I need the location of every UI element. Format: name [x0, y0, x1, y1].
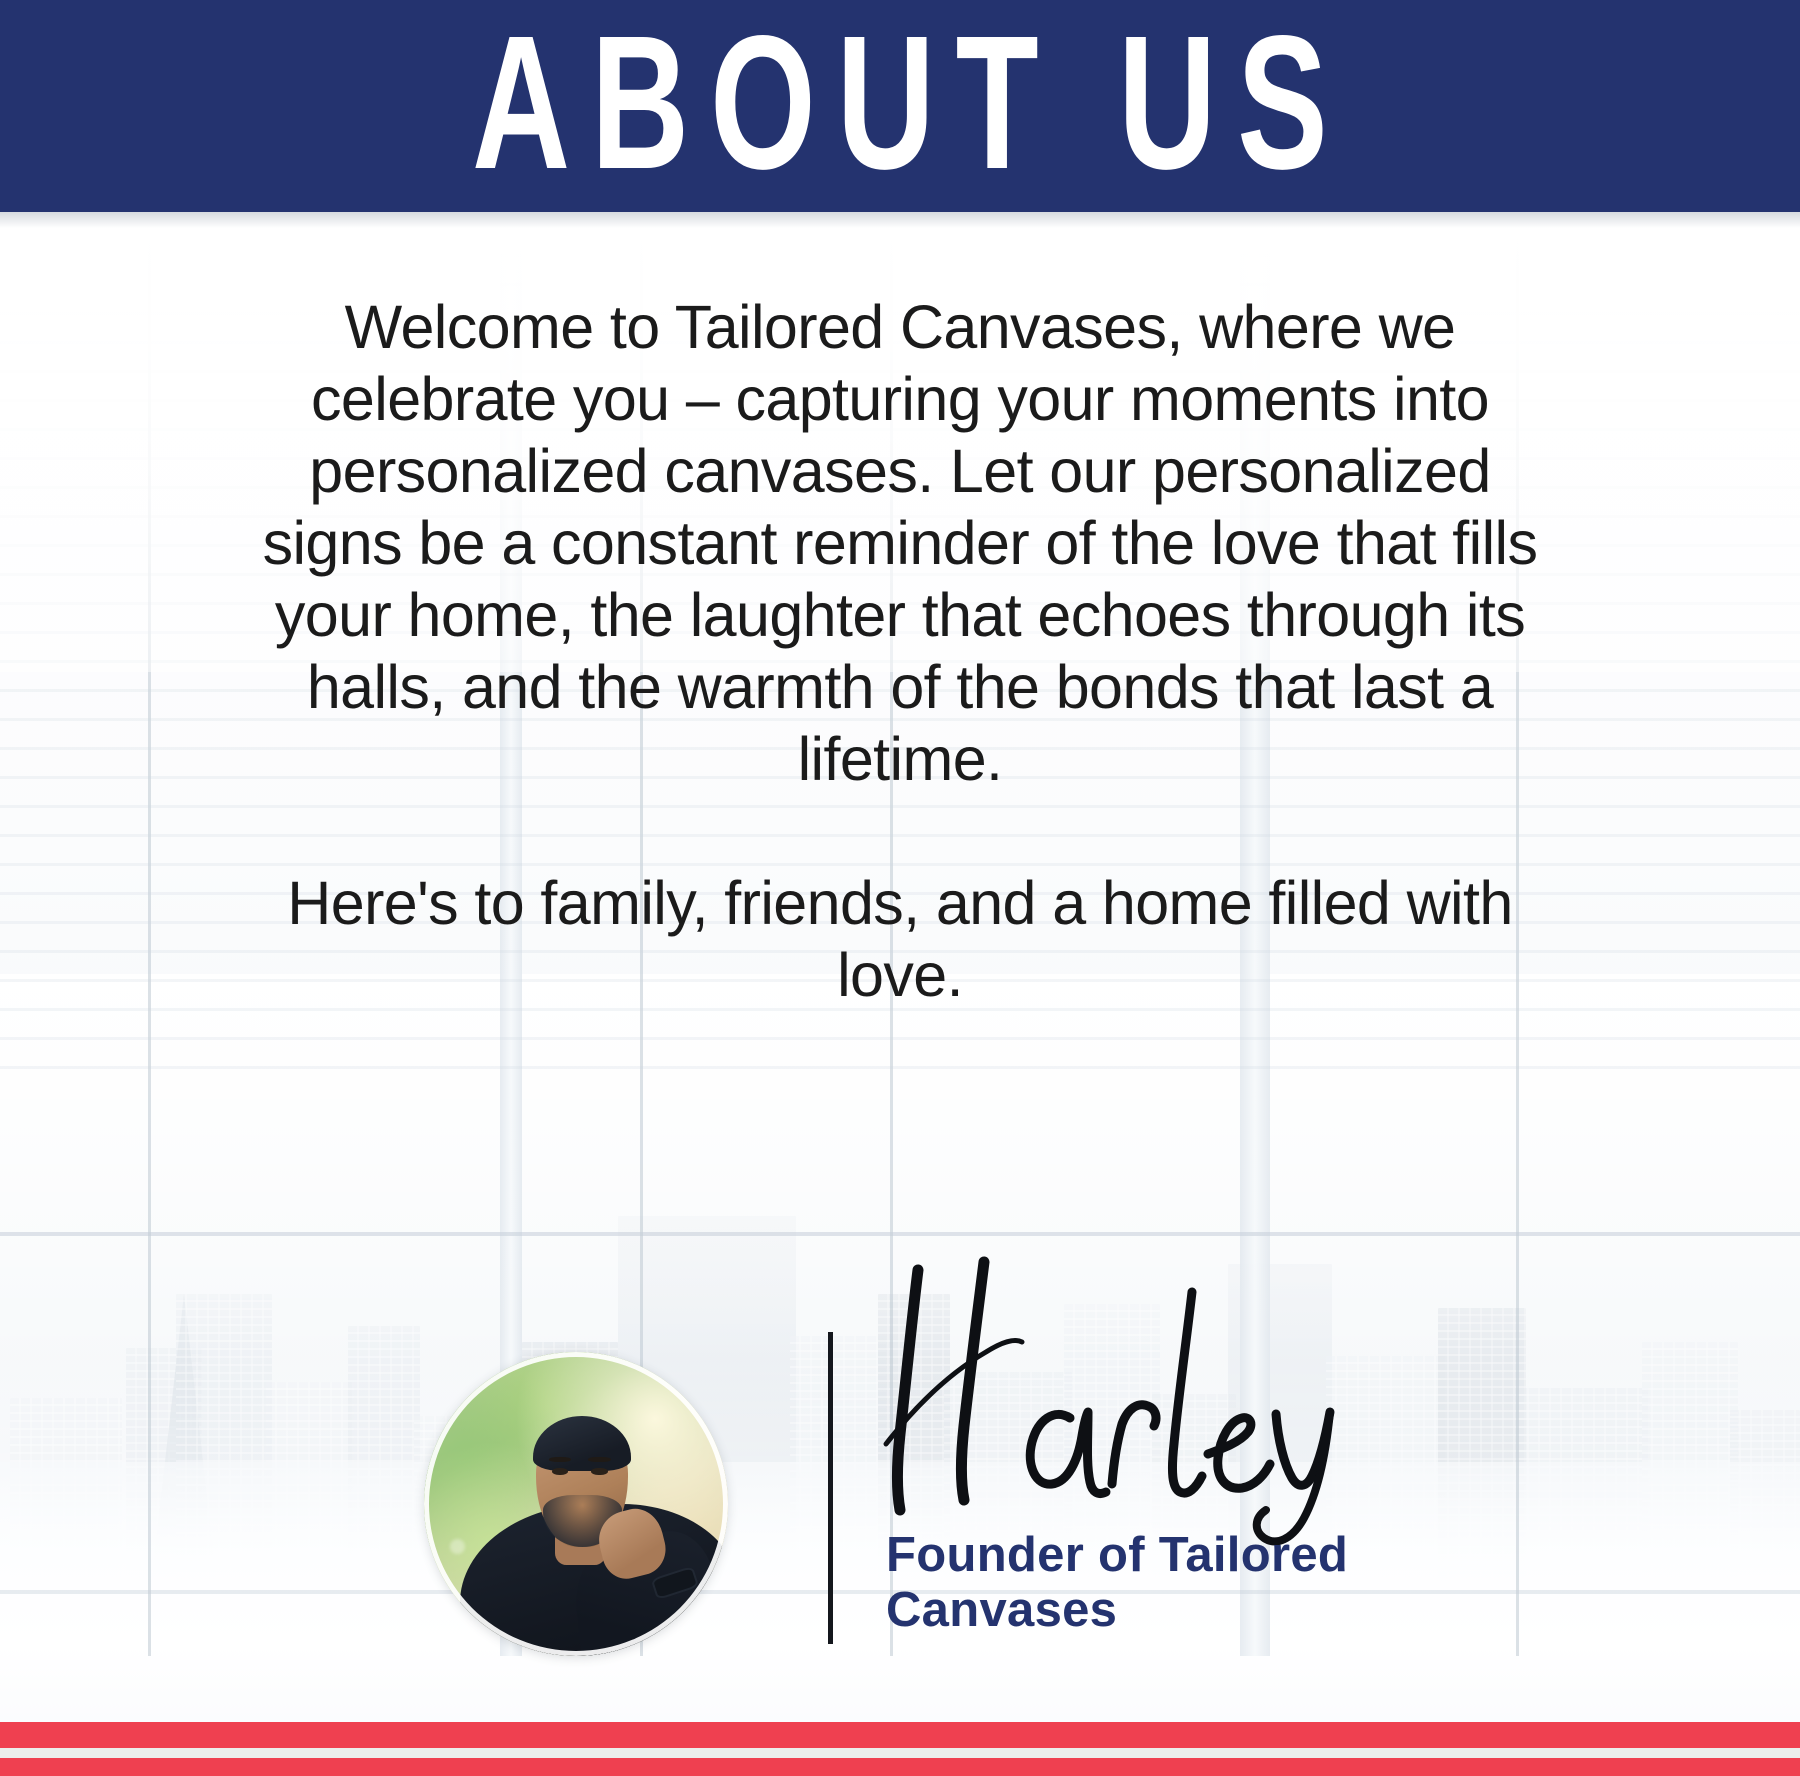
signature-divider	[828, 1332, 833, 1644]
founder-role-line-2: Canvases	[886, 1583, 1486, 1638]
signature-block: Founder of Tailored Canvases	[0, 1210, 1800, 1680]
footer-stripe-top	[0, 1722, 1800, 1748]
signature-harley	[856, 1248, 1376, 1548]
signature-harley-icon	[856, 1248, 1376, 1548]
about-us-poster: ABOUT US Welcome to Tailored Canvases, w…	[0, 0, 1800, 1776]
header-banner: ABOUT US	[0, 0, 1800, 212]
avatar	[424, 1352, 728, 1656]
founder-role-line-1: Founder of Tailored	[886, 1528, 1486, 1583]
about-us-copy: Welcome to Tailored Canvases, where we c…	[235, 292, 1565, 1012]
footer-stripe-bottom	[0, 1758, 1800, 1776]
paragraph-closing: Here's to family, friends, and a home fi…	[235, 868, 1565, 1012]
paragraph-welcome: Welcome to Tailored Canvases, where we c…	[235, 292, 1565, 796]
footer-stripe-gap	[0, 1748, 1800, 1758]
founder-role: Founder of Tailored Canvases	[886, 1528, 1486, 1638]
page-title: ABOUT US	[451, 8, 1348, 198]
avatar-ring	[424, 1352, 728, 1656]
